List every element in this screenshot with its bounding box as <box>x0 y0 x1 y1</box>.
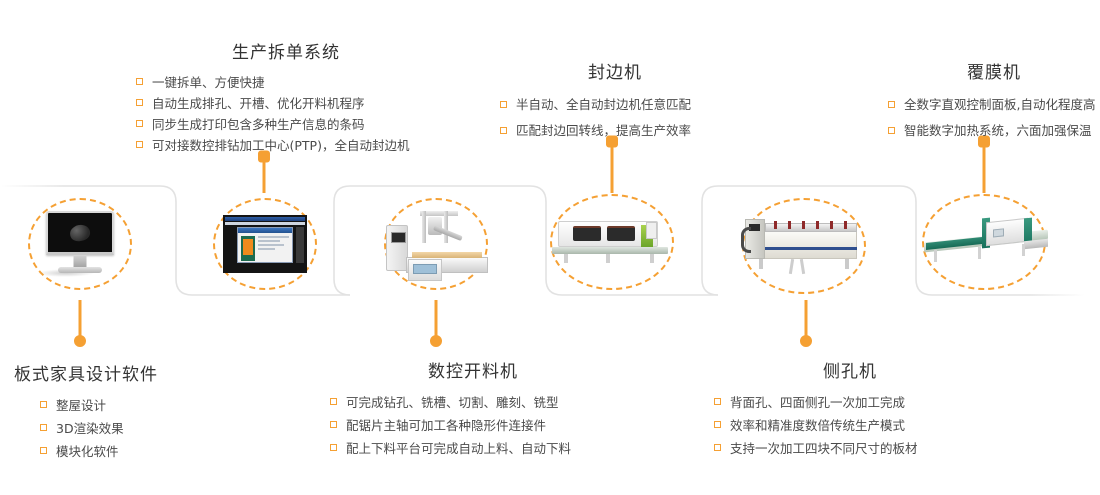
list-item-label: 整屋设计 <box>56 398 106 413</box>
feature-list: 半自动、全自动封边机任意匹配 匹配封边回转线，提高生产效率 <box>500 92 730 144</box>
text-block-design-software: 板式家具设计软件 整屋设计 3D渲染效果 模块化软件 <box>14 360 214 463</box>
list-item: 可对接数控排钻加工中心(PTP)，全自动封边机 <box>136 135 436 156</box>
block-title: 生产拆单系统 <box>136 38 436 63</box>
text-block-cnc-nesting-machine: 数控开料机 可完成钻孔、铣槽、切割、雕刻、铣型 配锯片主轴可加工各种隐形件连接件… <box>330 357 616 460</box>
block-title: 封边机 <box>500 58 730 83</box>
feature-list: 可完成钻孔、铣槽、切割、雕刻、铣型 配锯片主轴可加工各种隐形件连接件 配上下料平… <box>330 391 616 460</box>
software-screen-icon <box>223 215 307 273</box>
square-bullet-icon <box>500 101 507 108</box>
list-item-label: 效率和精准度数倍传统生产模式 <box>730 418 905 433</box>
list-item-label: 背面孔、四面侧孔一次加工完成 <box>730 395 905 410</box>
square-bullet-icon <box>40 401 47 408</box>
node-side-drilling-machine[interactable] <box>742 198 866 294</box>
infographic-stage: 生产拆单系统 一键拆单、方便快捷 自动生成排孔、开槽、优化开料机程序 同步生成打… <box>0 0 1100 495</box>
laminating-machine-icon <box>924 214 1044 270</box>
feature-list: 全数字直观控制面板,自动化程度高 智能数字加热系统，六面加强保温 <box>888 92 1100 144</box>
square-bullet-icon <box>330 398 337 405</box>
square-bullet-icon <box>714 421 721 428</box>
square-bullet-icon <box>330 421 337 428</box>
list-item-label: 支持一次加工四块不同尺寸的板材 <box>730 441 918 456</box>
text-block-side-drilling-machine: 侧孔机 背面孔、四面侧孔一次加工完成 效率和精准度数倍传统生产模式 支持一次加工… <box>714 357 986 460</box>
desktop-computer-icon <box>41 211 119 277</box>
square-bullet-icon <box>888 127 895 134</box>
list-item-label: 自动生成排孔、开槽、优化开料机程序 <box>152 96 365 111</box>
square-bullet-icon <box>136 78 143 85</box>
list-item-label: 匹配封边回转线，提高生产效率 <box>516 123 691 138</box>
list-item: 半自动、全自动封边机任意匹配 <box>500 92 730 118</box>
list-item: 一键拆单、方便快捷 <box>136 72 436 93</box>
square-bullet-icon <box>500 127 507 134</box>
list-item-label: 模块化软件 <box>56 444 119 459</box>
square-bullet-icon <box>40 447 47 454</box>
feature-list: 整屋设计 3D渲染效果 模块化软件 <box>14 394 214 463</box>
list-item-label: 可对接数控排钻加工中心(PTP)，全自动封边机 <box>152 138 409 153</box>
list-item-label: 智能数字加热系统，六面加强保温 <box>904 123 1092 138</box>
list-item-label: 可完成钻孔、铣槽、切割、雕刻、铣型 <box>346 395 559 410</box>
list-item-label: 配锯片主轴可加工各种隐形件连接件 <box>346 418 546 433</box>
list-item-label: 全数字直观控制面板,自动化程度高 <box>904 97 1095 112</box>
list-item: 模块化软件 <box>40 440 214 463</box>
text-block-order-splitting-system: 生产拆单系统 一键拆单、方便快捷 自动生成排孔、开槽、优化开料机程序 同步生成打… <box>136 38 436 156</box>
list-item-label: 3D渲染效果 <box>56 421 124 436</box>
node-design-software[interactable] <box>28 198 132 290</box>
list-item: 同步生成打印包含多种生产信息的条码 <box>136 114 436 135</box>
list-item: 配锯片主轴可加工各种隐形件连接件 <box>330 414 616 437</box>
list-item-label: 半自动、全自动封边机任意匹配 <box>516 97 691 112</box>
feature-list: 背面孔、四面侧孔一次加工完成 效率和精准度数倍传统生产模式 支持一次加工四块不同… <box>714 391 986 460</box>
square-bullet-icon <box>136 120 143 127</box>
list-item: 整屋设计 <box>40 394 214 417</box>
node-cnc-nesting-machine[interactable] <box>384 198 488 290</box>
list-item: 匹配封边回转线，提高生产效率 <box>500 118 730 144</box>
node-laminating-machine[interactable] <box>922 194 1046 290</box>
cnc-nesting-machine-icon <box>386 207 486 281</box>
square-bullet-icon <box>40 424 47 431</box>
node-order-splitting-system[interactable] <box>213 198 317 290</box>
edge-banding-machine-icon <box>552 219 672 265</box>
square-bullet-icon <box>714 444 721 451</box>
list-item-label: 一键拆单、方便快捷 <box>152 75 265 90</box>
list-item: 支持一次加工四块不同尺寸的板材 <box>714 437 986 460</box>
text-block-laminating-machine: 覆膜机 全数字直观控制面板,自动化程度高 智能数字加热系统，六面加强保温 <box>888 58 1100 144</box>
list-item: 自动生成排孔、开槽、优化开料机程序 <box>136 93 436 114</box>
list-item: 背面孔、四面侧孔一次加工完成 <box>714 391 986 414</box>
square-bullet-icon <box>714 398 721 405</box>
block-title: 侧孔机 <box>714 357 986 382</box>
side-drilling-machine-icon <box>745 215 863 277</box>
block-title: 覆膜机 <box>888 58 1100 83</box>
block-title: 数控开料机 <box>330 357 616 382</box>
list-item: 智能数字加热系统，六面加强保温 <box>888 118 1100 144</box>
list-item-label: 配上下料平台可完成自动上料、自动下料 <box>346 441 571 456</box>
feature-list: 一键拆单、方便快捷 自动生成排孔、开槽、优化开料机程序 同步生成打印包含多种生产… <box>136 72 436 156</box>
block-title: 板式家具设计软件 <box>14 360 214 385</box>
square-bullet-icon <box>136 141 143 148</box>
square-bullet-icon <box>330 444 337 451</box>
text-block-edge-banding-machine: 封边机 半自动、全自动封边机任意匹配 匹配封边回转线，提高生产效率 <box>500 58 730 144</box>
square-bullet-icon <box>888 101 895 108</box>
list-item: 可完成钻孔、铣槽、切割、雕刻、铣型 <box>330 391 616 414</box>
list-item: 全数字直观控制面板,自动化程度高 <box>888 92 1100 118</box>
list-item: 配上下料平台可完成自动上料、自动下料 <box>330 437 616 460</box>
square-bullet-icon <box>136 99 143 106</box>
list-item: 3D渲染效果 <box>40 417 214 440</box>
list-item: 效率和精准度数倍传统生产模式 <box>714 414 986 437</box>
node-edge-banding-machine[interactable] <box>550 194 674 290</box>
list-item-label: 同步生成打印包含多种生产信息的条码 <box>152 117 365 132</box>
